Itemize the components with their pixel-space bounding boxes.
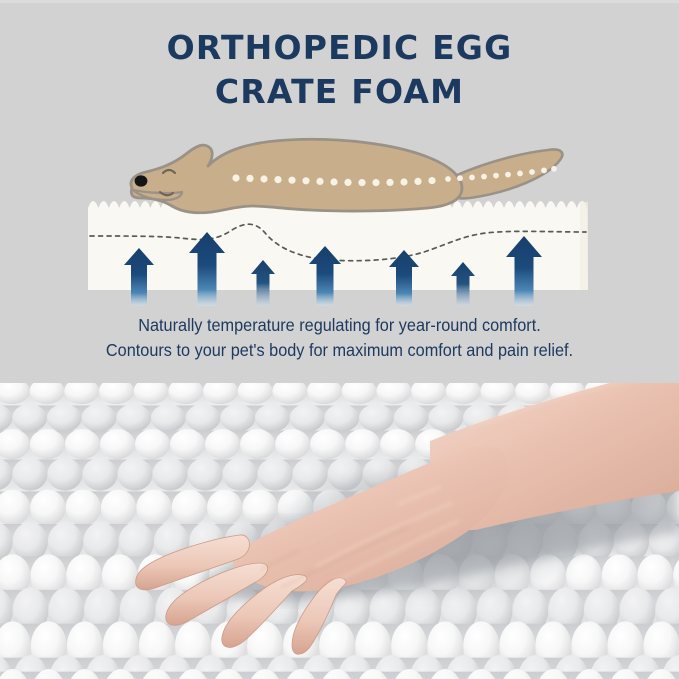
page-title-line-1: ORTHOPEDIC EGG	[0, 26, 679, 70]
dog-nose	[135, 175, 148, 186]
dog-body	[131, 139, 462, 212]
foam-dog-illustration	[0, 120, 679, 310]
feature-captions: Naturally temperature regulating for yea…	[0, 313, 679, 363]
top-info-panel: ORTHOPEDIC EGG CRATE FOAM	[0, 0, 679, 383]
foam-slab	[88, 201, 588, 290]
product-feature-image: ORTHOPEDIC EGG CRATE FOAM	[0, 0, 679, 679]
top-hairline	[0, 0, 679, 3]
page-title: ORTHOPEDIC EGG CRATE FOAM	[0, 26, 679, 114]
caption-line-1: Naturally temperature regulating for yea…	[24, 313, 655, 338]
caption-line-2: Contours to your pet's body for maximum …	[24, 338, 655, 363]
foam-closeup-photo	[0, 383, 679, 679]
foam-texture	[0, 383, 679, 679]
page-title-line-2: CRATE FOAM	[0, 70, 679, 114]
